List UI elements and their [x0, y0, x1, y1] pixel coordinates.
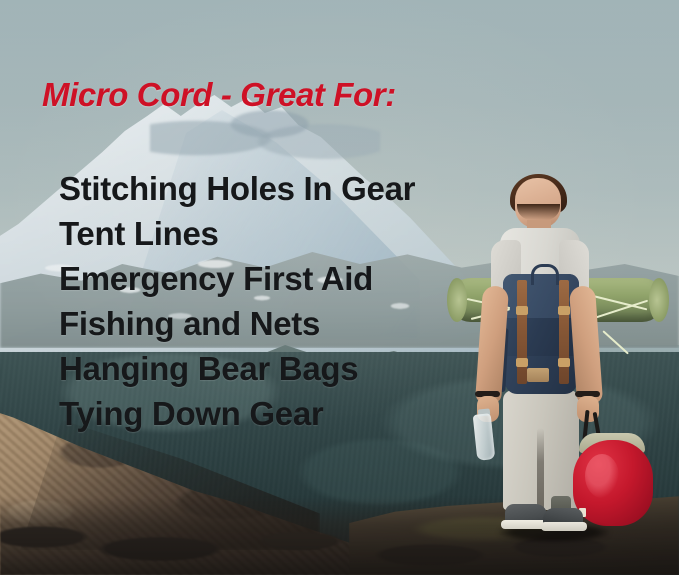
leg-separation [537, 428, 544, 512]
buckle-left-upper [516, 306, 528, 315]
right-shoe-sole [541, 522, 587, 531]
headline: Micro Cord - Great For: [42, 76, 396, 114]
leather-strap-right [559, 280, 569, 384]
hair-nape [517, 204, 560, 220]
buckle-right-upper [558, 306, 570, 315]
mat-end-right [649, 278, 669, 322]
backpack-handle [531, 264, 559, 285]
list-item: Emergency First Aid [59, 256, 415, 301]
list-item: Fishing and Nets [59, 301, 415, 346]
product-feature-poster: Micro Cord - Great For: Stitching Holes … [0, 0, 679, 575]
use-case-list: Stitching Holes In Gear Tent Lines Emerg… [59, 166, 415, 436]
backpack-leather-badge [527, 368, 549, 382]
buckle-left-lower [516, 358, 528, 367]
leather-strap-left [517, 280, 527, 384]
stuff-sack-highlight [585, 454, 619, 498]
mat-end-left [447, 278, 467, 322]
list-item: Hanging Bear Bags [59, 346, 415, 391]
list-item: Stitching Holes In Gear [59, 166, 415, 211]
lashing-cord-5 [602, 330, 629, 354]
list-item: Tying Down Gear [59, 391, 415, 436]
buckle-right-lower [558, 358, 570, 367]
list-item: Tent Lines [59, 211, 415, 256]
hiker-figure [455, 178, 670, 546]
